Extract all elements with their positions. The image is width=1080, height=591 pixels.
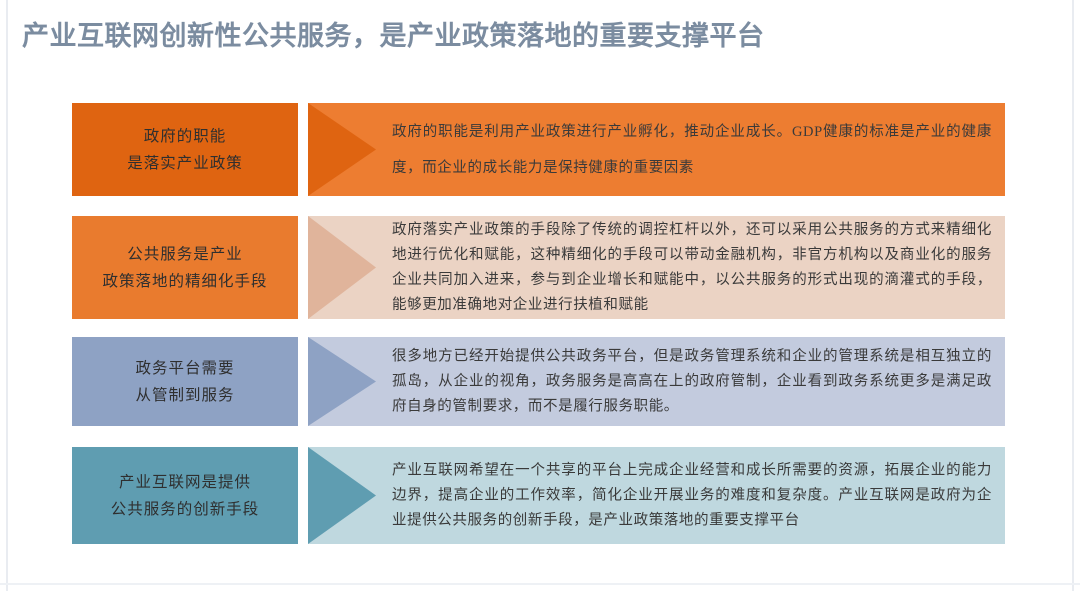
row-label-text: 政务平台需要 从管制到服务	[135, 355, 234, 409]
slide-canvas: 产业互联网创新性公共服务，是产业政策落地的重要支撑平台 政府的职能 是落实产业政…	[0, 0, 1080, 591]
row-label-text: 公共服务是产业 政策落地的精细化手段	[102, 241, 267, 295]
row-body-text: 产业互联网希望在一个共享的平台上完成企业经营和成长所需要的资源，拓展企业的能力边…	[392, 458, 992, 533]
row-label-box[interactable]: 政务平台需要 从管制到服务	[72, 337, 298, 426]
process-row: 政务平台需要 从管制到服务 很多地方已经开始提供公共政务平台，但是政务管理系统和…	[72, 337, 1005, 426]
row-label-text: 产业互联网是提供 公共服务的创新手段	[111, 469, 260, 523]
process-row: 产业互联网是提供 公共服务的创新手段 产业互联网希望在一个共享的平台上完成企业经…	[72, 447, 1005, 544]
row-label-box[interactable]: 产业互联网是提供 公共服务的创新手段	[72, 447, 298, 544]
row-label-box[interactable]: 政府的职能 是落实产业政策	[72, 103, 298, 196]
arrow-right-icon	[308, 337, 376, 426]
row-body-box[interactable]: 很多地方已经开始提供公共政务平台，但是政务管理系统和企业的管理系统是相互独立的孤…	[308, 337, 1005, 426]
row-body-box[interactable]: 政府落实产业政策的手段除了传统的调控杠杆以外，还可以采用公共服务的方式来精细化地…	[308, 216, 1005, 319]
row-body-text: 政府落实产业政策的手段除了传统的调控杠杆以外，还可以采用公共服务的方式来精细化地…	[392, 218, 992, 318]
row-body-box[interactable]: 政府的职能是利用产业政策进行产业孵化，推动企业成长。GDP健康的标准是产业的健康…	[308, 103, 1005, 196]
process-row: 政府的职能 是落实产业政策 政府的职能是利用产业政策进行产业孵化，推动企业成长。…	[72, 103, 1005, 196]
process-rows-container: 政府的职能 是落实产业政策 政府的职能是利用产业政策进行产业孵化，推动企业成长。…	[0, 0, 1080, 591]
row-body-text: 政府的职能是利用产业政策进行产业孵化，推动企业成长。GDP健康的标准是产业的健康…	[392, 114, 992, 186]
process-row: 公共服务是产业 政策落地的精细化手段 政府落实产业政策的手段除了传统的调控杠杆以…	[72, 216, 1005, 319]
arrow-right-icon	[308, 216, 376, 319]
arrow-right-icon	[308, 447, 376, 544]
row-label-box[interactable]: 公共服务是产业 政策落地的精细化手段	[72, 216, 298, 319]
row-label-text: 政府的职能 是落实产业政策	[127, 123, 243, 177]
row-body-text: 很多地方已经开始提供公共政务平台，但是政务管理系统和企业的管理系统是相互独立的孤…	[392, 344, 992, 419]
arrow-right-icon	[308, 103, 376, 196]
row-body-box[interactable]: 产业互联网希望在一个共享的平台上完成企业经营和成长所需要的资源，拓展企业的能力边…	[308, 447, 1005, 544]
